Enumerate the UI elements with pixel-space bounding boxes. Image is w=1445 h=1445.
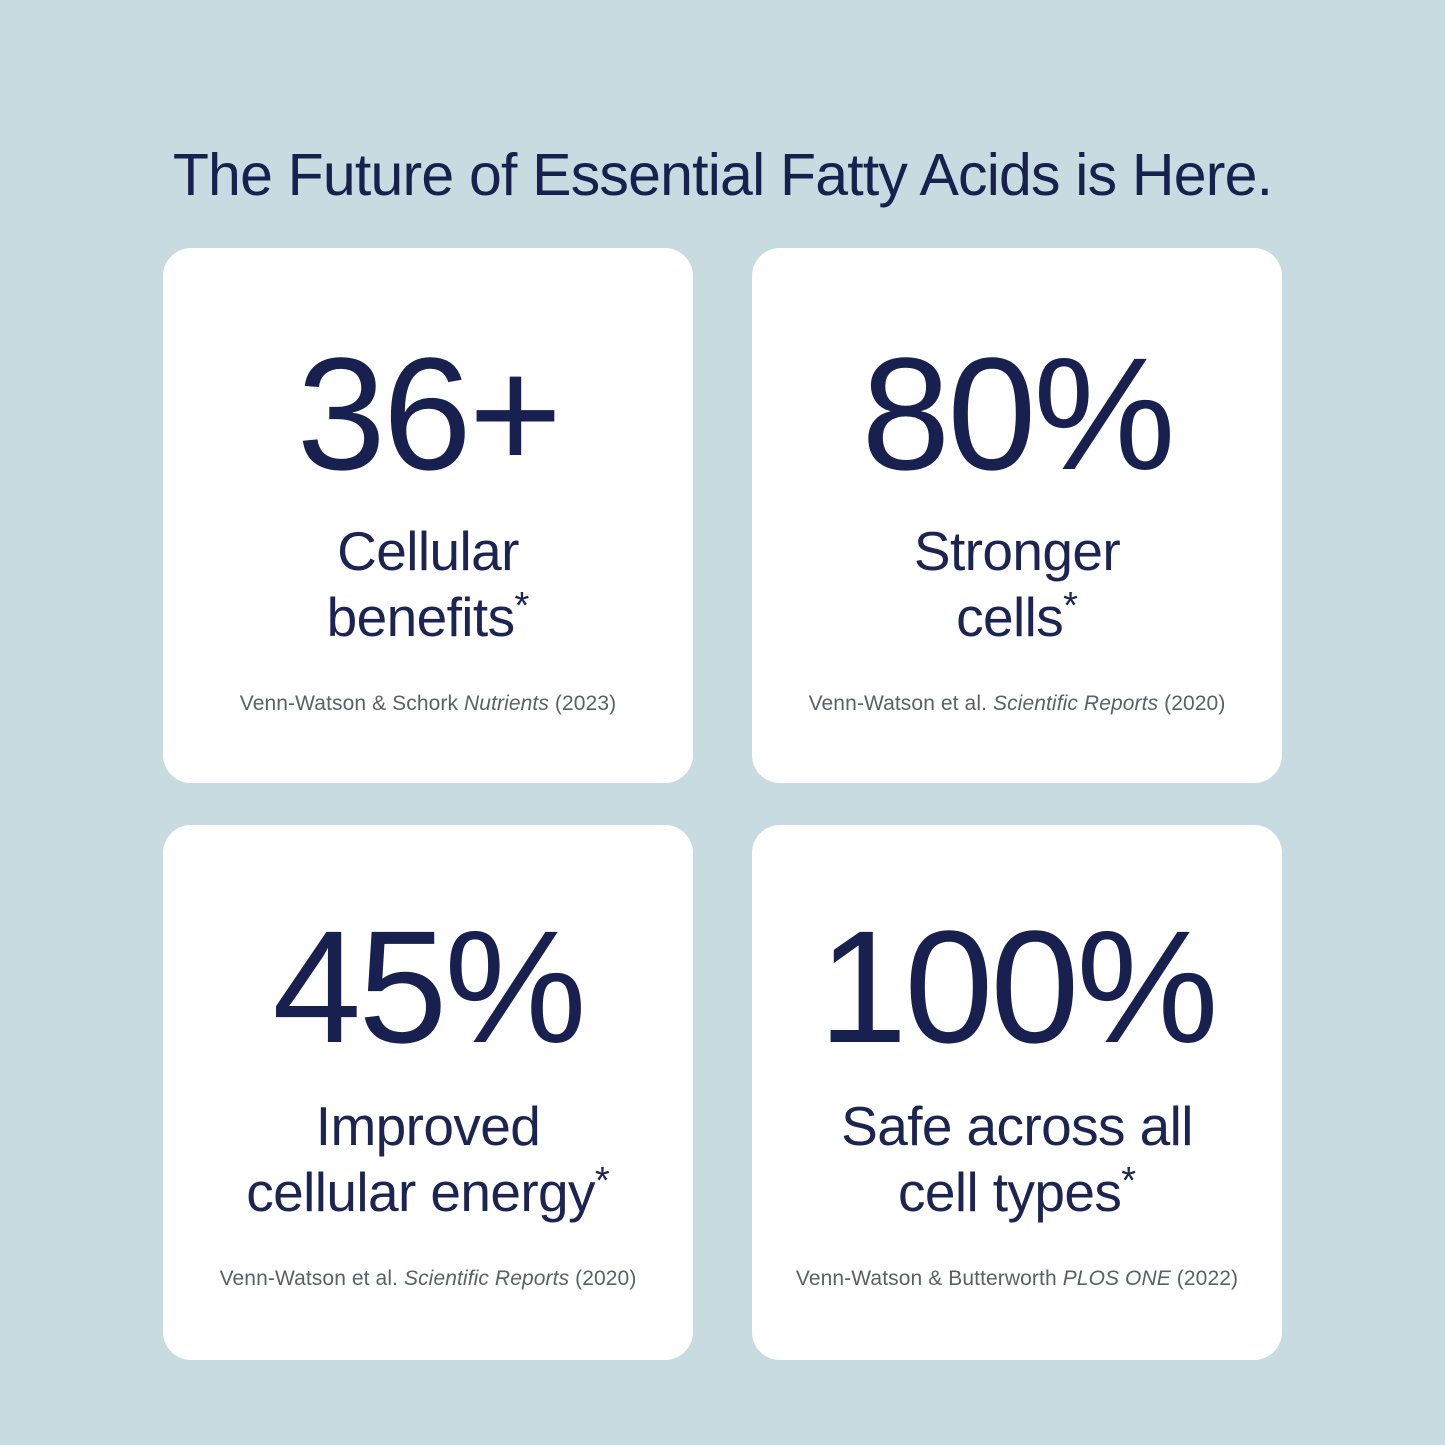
citation-journal: Scientific Reports: [404, 1267, 569, 1290]
footnote-asterisk: *: [1063, 585, 1078, 627]
stat-value: 80%: [861, 334, 1172, 494]
stat-label-line-1: Improved: [316, 1095, 540, 1157]
stat-card-safe-cell-types: 100% Safe across all cell types* Venn-Wa…: [752, 825, 1282, 1360]
page-title: The Future of Essential Fatty Acids is H…: [0, 143, 1445, 208]
infographic-root: The Future of Essential Fatty Acids is H…: [0, 0, 1445, 1445]
stat-value: 36+: [297, 334, 559, 494]
stat-card-cellular-energy: 45% Improved cellular energy* Venn-Watso…: [163, 825, 693, 1360]
stat-label-line-1: Safe across all: [841, 1095, 1193, 1157]
stat-label: Stronger cells*: [900, 520, 1134, 650]
footnote-asterisk: *: [515, 585, 530, 627]
stat-label: Safe across all cell types*: [827, 1095, 1207, 1225]
stat-label-line-1: Stronger: [914, 520, 1120, 582]
stat-label: Improved cellular energy*: [232, 1095, 624, 1225]
citation-journal: Scientific Reports: [993, 692, 1158, 715]
citation-authors: Venn-Watson & Schork: [240, 692, 464, 715]
footnote-asterisk: *: [595, 1160, 610, 1202]
citation-year: (2023): [549, 692, 616, 715]
stat-label-line-2: benefits: [327, 586, 515, 648]
citation-authors: Venn-Watson & Butterworth: [796, 1267, 1063, 1290]
citation-journal: Nutrients: [464, 692, 549, 715]
citation-year: (2020): [569, 1267, 636, 1290]
stat-label-line-2: cells: [956, 586, 1063, 648]
citation-journal: PLOS ONE: [1063, 1267, 1171, 1290]
stat-label-line-1: Cellular: [337, 520, 519, 582]
stat-label: Cellular benefits*: [313, 520, 544, 650]
citation-year: (2022): [1171, 1267, 1238, 1290]
stat-card-grid: 36+ Cellular benefits* Venn-Watson & Sch…: [163, 248, 1282, 1360]
citation-authors: Venn-Watson et al.: [220, 1267, 404, 1290]
stat-label-line-2: cellular energy: [246, 1161, 595, 1223]
footnote-asterisk: *: [1121, 1160, 1136, 1202]
stat-citation: Venn-Watson et al. Scientific Reports (2…: [163, 1265, 693, 1292]
stat-card-cellular-benefits: 36+ Cellular benefits* Venn-Watson & Sch…: [163, 248, 693, 783]
stat-citation: Venn-Watson et al. Scientific Reports (2…: [752, 690, 1282, 717]
stat-label-line-2: cell types: [898, 1161, 1121, 1223]
stat-citation: Venn-Watson & Butterworth PLOS ONE (2022…: [752, 1265, 1282, 1292]
stat-citation: Venn-Watson & Schork Nutrients (2023): [163, 690, 693, 717]
citation-authors: Venn-Watson et al.: [809, 692, 993, 715]
stat-value: 100%: [818, 907, 1215, 1067]
stat-value: 45%: [272, 907, 583, 1067]
stat-card-stronger-cells: 80% Stronger cells* Venn-Watson et al. S…: [752, 248, 1282, 783]
citation-year: (2020): [1158, 692, 1225, 715]
